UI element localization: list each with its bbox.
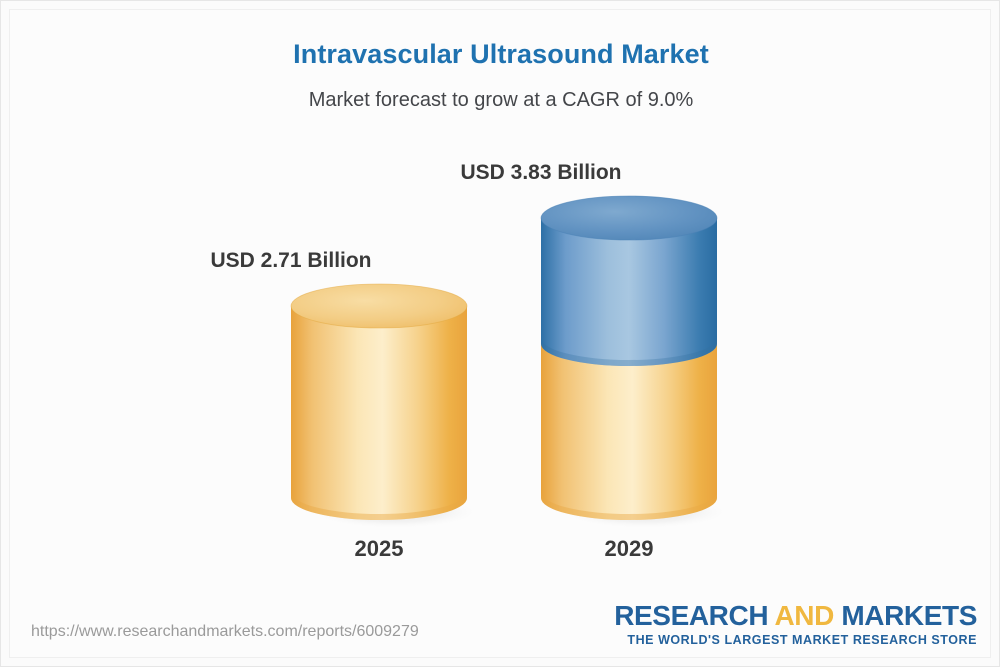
logo-tagline: THE WORLD'S LARGEST MARKET RESEARCH STOR… bbox=[614, 633, 977, 647]
logo-word-markets: MARKETS bbox=[841, 600, 977, 631]
source-url[interactable]: https://www.researchandmarkets.com/repor… bbox=[31, 623, 419, 641]
chart-plot-area: USD 2.71 Billion bbox=[1, 1, 1000, 667]
logo-word-research: RESEARCH bbox=[614, 600, 768, 631]
value-label-2025: USD 2.71 Billion bbox=[210, 249, 371, 273]
logo-word-and: AND bbox=[774, 600, 833, 631]
cylinder-bar-2029[interactable] bbox=[541, 196, 717, 526]
chart-page: Intravascular Ultrasound Market Market f… bbox=[0, 0, 1000, 667]
cylinder-bar-2025[interactable] bbox=[291, 284, 467, 526]
x-axis-label-2029: 2029 bbox=[541, 536, 717, 562]
logo-wordmark: RESEARCH AND MARKETS bbox=[614, 601, 977, 630]
research-and-markets-logo: RESEARCH AND MARKETS THE WORLD'S LARGEST… bbox=[614, 601, 977, 647]
value-label-2029: USD 3.83 Billion bbox=[460, 161, 621, 185]
x-axis-label-2025: 2025 bbox=[291, 536, 467, 562]
